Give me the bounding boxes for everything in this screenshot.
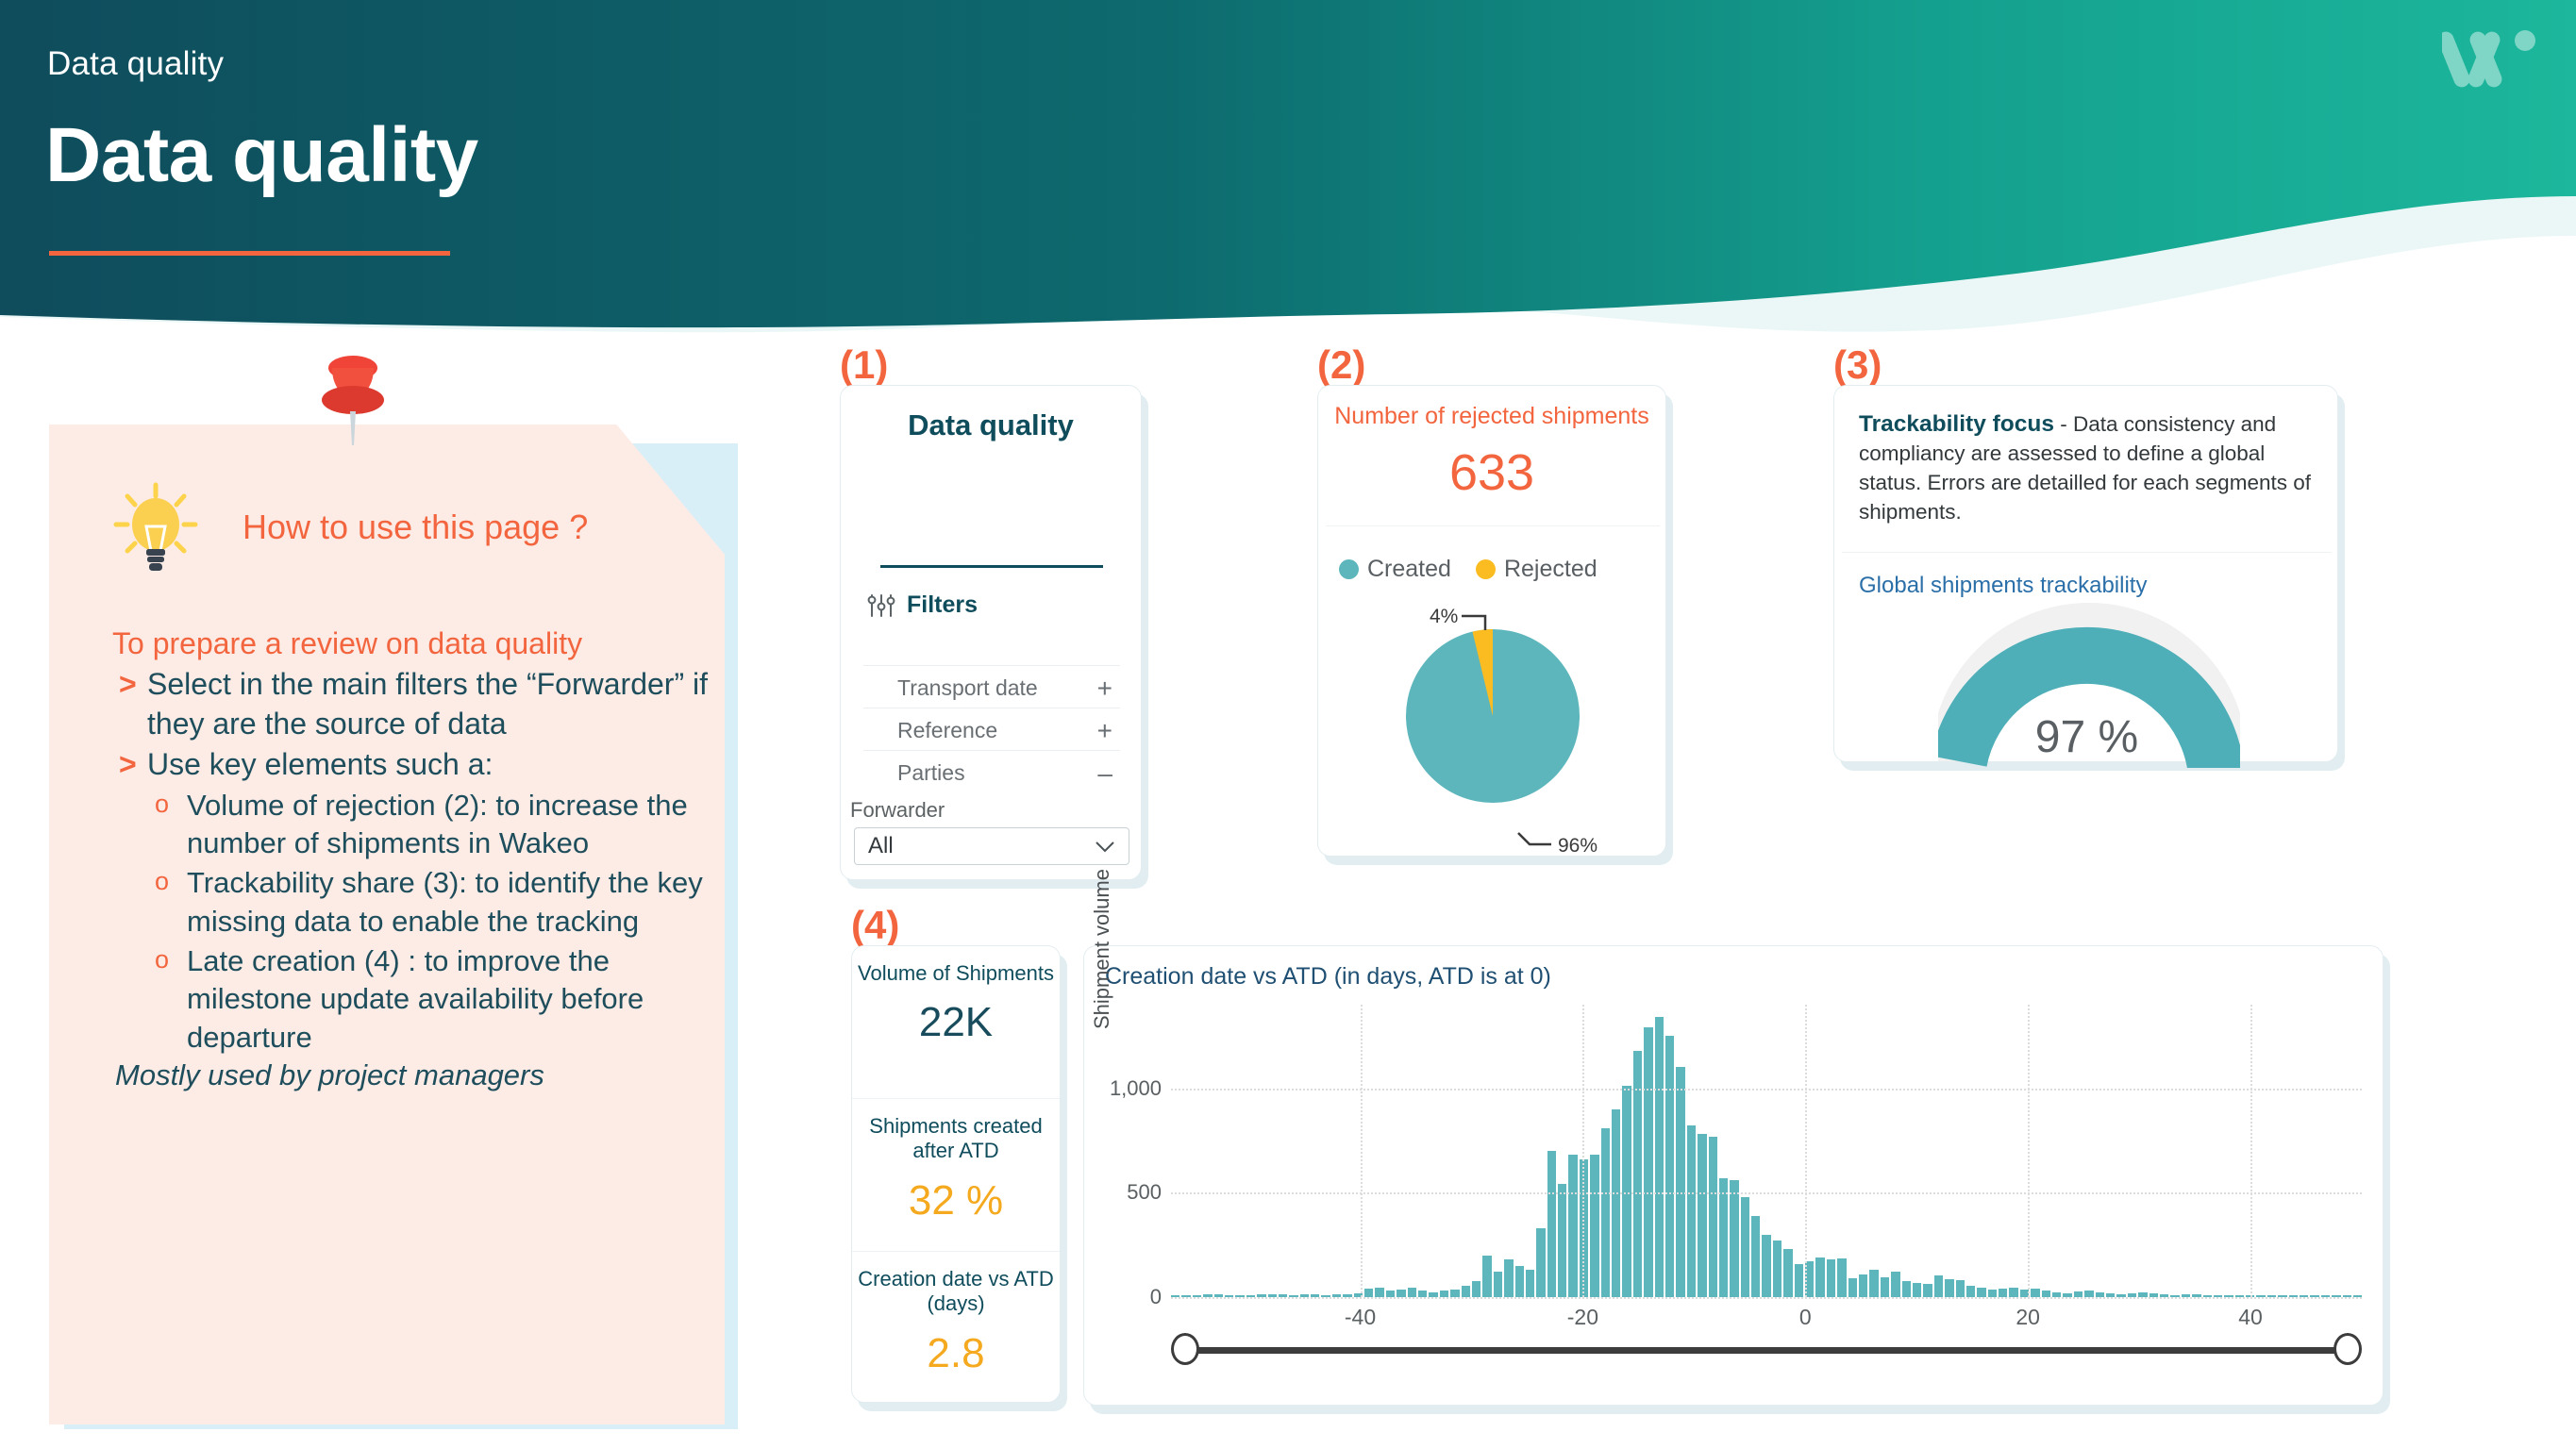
chart-bar[interactable] (1472, 1281, 1480, 1297)
collapse-icon[interactable]: – (1097, 758, 1112, 789)
chart-ytick: 500 (1127, 1180, 1162, 1205)
expand-icon[interactable]: + (1097, 716, 1112, 746)
marker-4: (4) (851, 903, 899, 948)
chart-bar[interactable] (2009, 1288, 2017, 1297)
chart-bar[interactable] (1815, 1257, 1824, 1297)
chart-bar[interactable] (1934, 1275, 1943, 1297)
chart-bar[interactable] (1891, 1272, 1899, 1297)
chart-bar[interactable] (1655, 1017, 1664, 1297)
marker-2: (2) (1317, 342, 1365, 388)
chart-bar[interactable] (1687, 1125, 1696, 1297)
card3-title: Trackability focus (1859, 411, 2054, 437)
chart-bar[interactable] (2031, 1289, 2039, 1297)
chart-bar[interactable] (2084, 1291, 2093, 1297)
note-subbullet-list: o Volume of rejection (2): to increase t… (60, 787, 721, 1057)
chart-bar[interactable] (1827, 1259, 1835, 1297)
chart-bar[interactable] (1945, 1279, 1953, 1297)
chart-vgridline (1361, 1005, 1363, 1297)
chart-bar[interactable] (1462, 1286, 1470, 1297)
card2-heading: Number of rejected shipments (1318, 403, 1665, 430)
chart-bar[interactable] (1644, 1027, 1652, 1297)
subbullet-marker: o (155, 865, 169, 898)
kpi-stack-card: Volume of Shipments 22K Shipments create… (851, 945, 1061, 1403)
note-header: How to use this page ? (82, 462, 648, 566)
chart-bar[interactable] (1881, 1277, 1889, 1297)
kpi-label: Shipments created after ATD (852, 1099, 1060, 1164)
slide-page: Data quality Data quality (0, 0, 2576, 1449)
chart-bar[interactable] (1977, 1288, 1985, 1297)
slider-handle-left[interactable] (1171, 1333, 1199, 1365)
subbullet-marker: o (155, 943, 169, 976)
chart-bar[interactable] (1440, 1291, 1448, 1297)
chart-bar[interactable] (1773, 1241, 1781, 1297)
pie-svg: 4% 96% (1318, 595, 1667, 859)
expand-icon[interactable]: + (1097, 674, 1112, 704)
title-underline (49, 251, 450, 256)
card3-dash: - (2054, 412, 2073, 436)
note-lead: To prepare a review on data quality (112, 625, 721, 663)
chart-bar[interactable] (1988, 1290, 1997, 1297)
legend-label: Rejected (1504, 556, 1597, 583)
bullet-marker: > (119, 665, 137, 705)
slider-track[interactable] (1184, 1347, 2349, 1354)
chart-bar[interactable] (1741, 1197, 1749, 1297)
chart-bar[interactable] (1698, 1134, 1706, 1297)
subbullet-text: Late creation (4) : to improve the miles… (187, 944, 644, 1054)
list-item: o Late creation (4) : to improve the mil… (60, 942, 721, 1057)
forwarder-value: All (868, 833, 894, 859)
chart-xtick: -20 (1567, 1305, 1598, 1330)
card3-subtitle: Global shipments trackability (1859, 573, 2147, 599)
chart-xtick: 20 (2016, 1305, 2040, 1330)
filter-row-parties[interactable]: Parties – (863, 750, 1120, 795)
chart-bar[interactable] (1913, 1283, 1921, 1298)
rejected-pie-chart: 4% 96% (1318, 595, 1667, 859)
chart-bar[interactable] (1482, 1256, 1491, 1297)
kpi-value: 22K (852, 999, 1060, 1046)
card1-title: Data quality (841, 408, 1141, 442)
legend-item-created[interactable]: Created (1339, 556, 1451, 583)
wakeo-logo (2442, 17, 2542, 98)
chart-bar[interactable] (1397, 1290, 1405, 1297)
chart-bar[interactable] (1751, 1216, 1760, 1297)
chart-ytick: 0 (1150, 1285, 1162, 1309)
chart-bar[interactable] (1783, 1249, 1792, 1297)
chart-bar[interactable] (1450, 1290, 1459, 1297)
filter-label: Transport date (897, 675, 1038, 701)
page-header: Data quality Data quality (0, 0, 2576, 358)
chart-bar[interactable] (1375, 1288, 1383, 1297)
marker-3: (3) (1833, 342, 1882, 388)
bullet-text: Select in the main filters the “Forwarde… (147, 667, 708, 741)
trackability-focus-card: Trackability focus - Data consistency an… (1833, 385, 2338, 762)
list-item: o Volume of rejection (2): to increase t… (60, 787, 721, 863)
rejected-shipments-card: Number of rejected shipments 633 Created… (1317, 385, 1666, 857)
note-footer: Mostly used by project managers (115, 1057, 721, 1094)
pie-legend: Created Rejected (1339, 556, 1597, 583)
kpi-volume-of-shipments: Volume of Shipments 22K (852, 946, 1060, 1098)
chart-bar[interactable] (1601, 1128, 1610, 1297)
chart-bar[interactable] (1848, 1278, 1857, 1297)
note-title: How to use this page ? (243, 508, 588, 547)
list-item: > Use key elements such a: (60, 745, 721, 785)
chart-gridline (1171, 1089, 2362, 1091)
chart-bar[interactable] (1515, 1266, 1524, 1297)
chart-bars (1171, 1005, 2362, 1297)
subbullet-text: Trackability share (3): to identify the … (187, 866, 703, 937)
chart-bar[interactable] (1408, 1288, 1416, 1297)
filter-row-transport-date[interactable]: Transport date + (863, 665, 1120, 710)
filters-label: Filters (907, 591, 978, 619)
chart-bar[interactable] (1558, 1184, 1566, 1297)
rejected-count-value: 633 (1318, 443, 1665, 502)
legend-swatch (1476, 559, 1496, 579)
chart-bar[interactable] (1504, 1259, 1513, 1297)
kpi-value: 2.8 (852, 1330, 1060, 1377)
data-quality-filter-card: Data quality Filters Transport date + Re… (840, 385, 1142, 880)
chart-bar[interactable] (1795, 1264, 1803, 1297)
chart-bar[interactable] (1859, 1274, 1867, 1297)
legend-swatch (1339, 559, 1359, 579)
chart-bar[interactable] (1622, 1086, 1631, 1297)
bullet-text: Use key elements such a: (147, 747, 493, 781)
bullet-marker: > (119, 745, 137, 785)
chart-xtick: -40 (1345, 1305, 1376, 1330)
chart-bar[interactable] (1568, 1155, 1577, 1297)
card3-description: Trackability focus - Data consistency an… (1834, 386, 2337, 526)
chart-ylabel: Shipment volume (1090, 841, 1114, 1058)
chart-bar[interactable] (1547, 1151, 1556, 1297)
how-to-note: How to use this page ? To prepare a revi… (49, 425, 725, 1424)
list-item: o Trackability share (3): to identify th… (60, 864, 721, 941)
chart-bar[interactable] (1999, 1289, 2007, 1297)
chart-bar[interactable] (1837, 1258, 1846, 1297)
chart-bar[interactable] (1709, 1137, 1717, 1298)
subbullet-text: Volume of rejection (2): to increase the… (187, 789, 688, 859)
chart-vgridline (2028, 1005, 2030, 1297)
subbullet-marker: o (155, 788, 169, 821)
note-bullet-list: > Select in the main filters the “Forwar… (60, 665, 721, 785)
card1-divider (880, 565, 1103, 568)
filter-row-reference[interactable]: Reference + (863, 708, 1120, 753)
lightbulb-icon (110, 481, 201, 575)
chart-title: Creation date vs ATD (in days, ATD is at… (1105, 963, 1551, 991)
chart-bar[interactable] (2042, 1291, 2050, 1297)
filter-label: Reference (897, 718, 997, 743)
pie-label-large: 96% (1558, 835, 1597, 857)
chart-ytick: 1,000 (1110, 1076, 1162, 1101)
card3-divider (1842, 552, 2332, 553)
chart-bar[interactable] (1386, 1291, 1395, 1297)
chart-bar[interactable] (1966, 1286, 1975, 1297)
filter-label: Parties (897, 760, 965, 786)
chart-xtick: 0 (1799, 1305, 1812, 1330)
pushpin-icon (311, 347, 394, 470)
gauge-value: 97 % (1834, 711, 2339, 763)
chart-gridline (1171, 1297, 2362, 1299)
slider-handle-right[interactable] (2333, 1333, 2362, 1365)
chart-range-slider[interactable] (1171, 1333, 2362, 1365)
chart-bar[interactable] (1364, 1289, 1373, 1297)
chart-vgridline (2250, 1005, 2252, 1297)
note-body: To prepare a review on data quality > Se… (60, 625, 721, 1094)
marker-1: (1) (840, 342, 888, 388)
filters-header: Filters (867, 591, 978, 619)
header-eyebrow: Data quality (47, 45, 224, 83)
chart-bar[interactable] (1526, 1270, 1534, 1297)
sliders-icon (867, 593, 895, 618)
legend-label: Created (1367, 556, 1451, 583)
chart-bar[interactable] (1719, 1178, 1728, 1297)
chart-vgridline (1582, 1005, 1584, 1297)
chart-vgridline (1805, 1005, 1807, 1297)
forwarder-select[interactable]: All (854, 827, 1129, 865)
chart-bar[interactable] (1730, 1180, 1738, 1297)
chart-gridline (1171, 1192, 2362, 1194)
chart-bar[interactable] (1590, 1155, 1598, 1297)
creation-date-histogram-card: Creation date vs ATD (in days, ATD is at… (1083, 945, 2384, 1406)
chart-bar[interactable] (1923, 1284, 1932, 1297)
chart-bar[interactable] (1418, 1291, 1427, 1297)
chart-bar[interactable] (1665, 1036, 1674, 1297)
chart-bar[interactable] (1902, 1281, 1911, 1297)
chart-bar[interactable] (1612, 1109, 1620, 1297)
chart-bar[interactable] (1536, 1228, 1545, 1297)
kpi-creation-date-vs-atd: Creation date vs ATD (days) 2.8 (852, 1252, 1060, 1404)
kpi-shipments-created-after-atd: Shipments created after ATD 32 % (852, 1099, 1060, 1251)
chart-bar[interactable] (1762, 1235, 1770, 1297)
kpi-label: Volume of Shipments (852, 946, 1060, 986)
chart-bar[interactable] (1494, 1272, 1502, 1297)
chart-xtick: 40 (2238, 1305, 2263, 1330)
pie-label-small: 4% (1430, 606, 1458, 627)
kpi-value: 32 % (852, 1177, 1060, 1224)
kpi-label: Creation date vs ATD (days) (852, 1252, 1060, 1317)
forwarder-label: Forwarder (850, 798, 945, 823)
page-title: Data quality (45, 111, 478, 200)
card2-divider (1326, 525, 1660, 526)
list-item: > Select in the main filters the “Forwar… (60, 665, 721, 743)
chart-bar[interactable] (1676, 1067, 1684, 1297)
chart-plot-area: 05001,000-40-2002040 (1171, 1005, 2362, 1297)
legend-item-rejected[interactable]: Rejected (1476, 556, 1597, 583)
chart-bar[interactable] (1956, 1280, 1965, 1297)
chart-bar[interactable] (1869, 1270, 1878, 1297)
